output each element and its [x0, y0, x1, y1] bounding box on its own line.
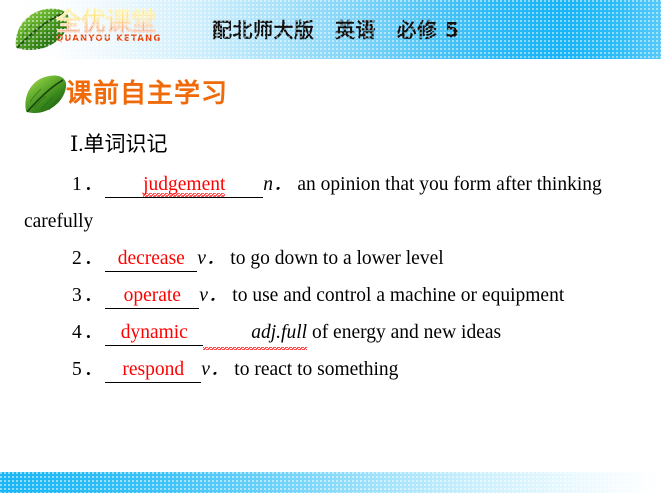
definition-continuation: carefully — [24, 211, 93, 232]
header-title: 配北师大版 英语 必修 5 — [212, 14, 459, 43]
answer-text: respond — [122, 359, 184, 380]
item-number: 3． — [72, 285, 105, 306]
section-heading: 课前自主学习 — [22, 72, 228, 116]
footer-bar — [0, 472, 661, 493]
item-number: 2． — [72, 248, 105, 269]
list-item: 4．dynamicadj.full of energy and new idea… — [0, 314, 661, 351]
brand-text: 全优课堂 QUANYOU KETANG — [56, 8, 174, 45]
vocabulary-list: 1．judgementn． an opinion that you form a… — [0, 166, 661, 388]
answer-blank[interactable]: decrease — [105, 248, 197, 272]
definition-text: an opinion that you form after thinking — [297, 174, 601, 195]
header-bar: 全优课堂 QUANYOU KETANG 配北师大版 英语 必修 5 — [0, 0, 661, 59]
answer-text: judgement — [143, 174, 225, 195]
answer-text: operate — [124, 285, 181, 306]
brand-name-en: QUANYOU KETANG — [56, 34, 174, 45]
answer-blank[interactable]: dynamic — [105, 322, 203, 346]
answer-text: dynamic — [121, 322, 188, 343]
part-of-speech: v． — [201, 359, 229, 380]
list-item: 2．decreasev． to go down to a lower level — [0, 240, 661, 277]
part-of-speech: adj.full — [203, 314, 307, 351]
definition-text: of energy and new ideas — [312, 322, 501, 343]
answer-blank[interactable]: respond — [105, 359, 201, 383]
answer-blank[interactable]: judgement — [105, 174, 263, 198]
leaf-icon — [22, 74, 68, 114]
part-of-speech: v． — [197, 248, 225, 269]
definition-text: to go down to a lower level — [230, 248, 443, 269]
subsection-title: Ⅰ.单词识记 — [70, 130, 661, 158]
list-item: 1．judgementn． an opinion that you form a… — [0, 166, 661, 203]
part-of-speech: v． — [199, 285, 227, 306]
brand-logo: 全优课堂 QUANYOU KETANG — [12, 4, 172, 54]
list-item-continuation: carefully — [0, 203, 661, 240]
main-content: Ⅰ.单词识记 1．judgementn． an opinion that you… — [0, 130, 661, 388]
section-heading-label: 课前自主学习 — [66, 79, 228, 109]
item-number: 5． — [72, 359, 105, 380]
list-item: 5．respondv． to react to something — [0, 351, 661, 388]
definition-text: to react to something — [234, 359, 398, 380]
item-number: 1． — [72, 174, 105, 195]
answer-blank[interactable]: operate — [105, 285, 199, 309]
part-of-speech: n． — [263, 174, 292, 195]
list-item: 3．operatev． to use and control a machine… — [0, 277, 661, 314]
brand-name-cn: 全优课堂 — [56, 8, 174, 35]
item-number: 4． — [72, 322, 105, 343]
definition-text: to use and control a machine or equipmen… — [232, 285, 564, 306]
answer-text: decrease — [118, 248, 185, 269]
